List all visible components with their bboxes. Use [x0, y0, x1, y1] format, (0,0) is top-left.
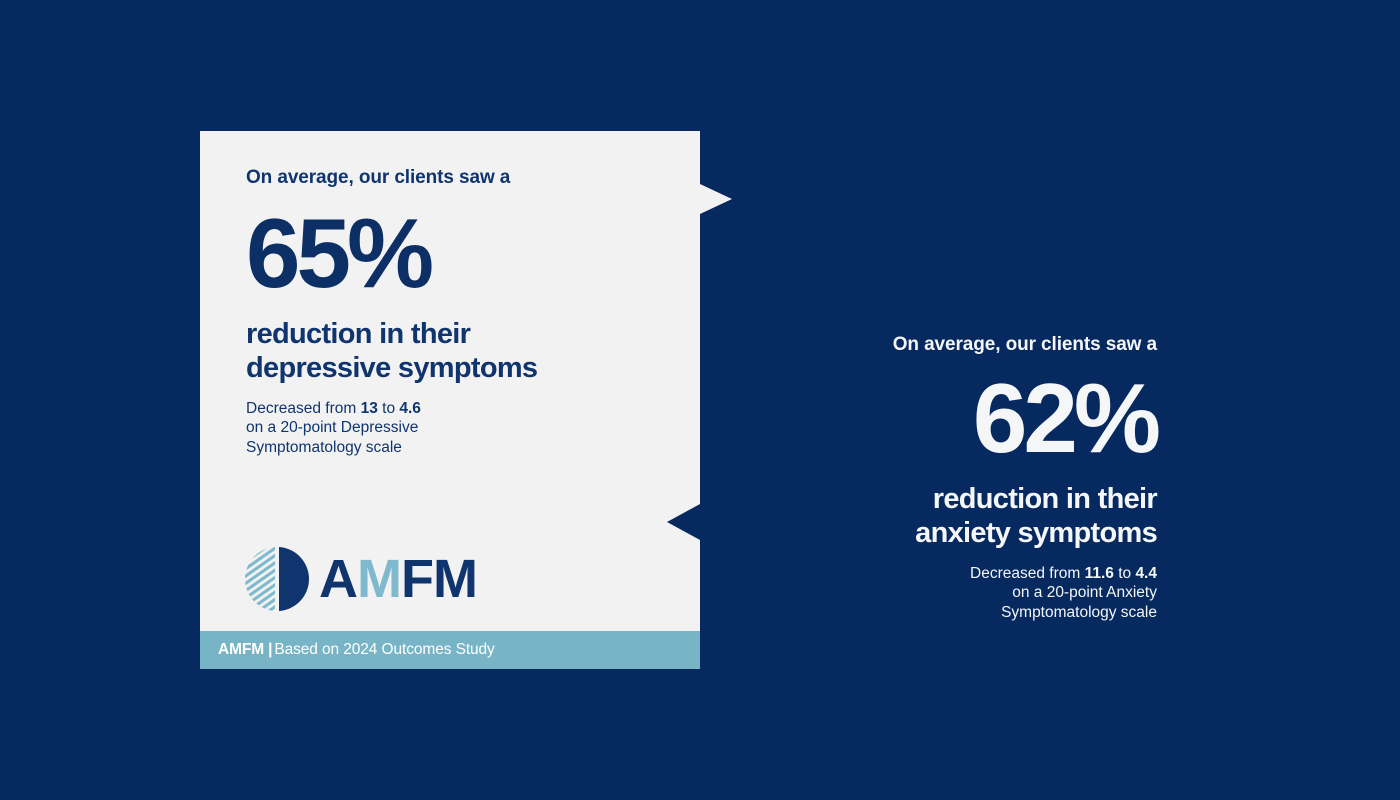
footer-separator: |: [264, 641, 274, 658]
anxiety-subnote-prefix: Decreased from: [970, 565, 1085, 582]
anxiety-kicker-text: On average, our clients saw a: [757, 334, 1157, 357]
anxiety-headline-line2: anxiety symptoms: [915, 517, 1157, 549]
source-footer-text: AMFM|Based on 2024 Outcomes Study: [218, 641, 495, 659]
depression-card-body: On average, our clients saw a 65% reduct…: [246, 167, 670, 458]
depression-to-value: 4.6: [399, 400, 421, 417]
depression-headline-line2: depressive symptoms: [246, 352, 537, 384]
depression-subnote-middle: to: [378, 400, 400, 417]
speech-bubble-tail-top: [700, 184, 732, 214]
anxiety-headline-line1: reduction in their: [933, 483, 1157, 515]
anxiety-stat-panel: On average, our clients saw a 62% reduct…: [757, 334, 1157, 623]
depression-percentage: 65%: [246, 204, 670, 302]
amfm-circle-mark-icon: [244, 546, 310, 612]
logo-letter-m1: M: [357, 552, 401, 606]
depression-subnote-line2: on a 20-point Depressive: [246, 419, 418, 436]
depression-subnote-line3: Symptomatology scale: [246, 439, 402, 456]
depression-headline-line1: reduction in their: [246, 318, 470, 350]
depression-subnote: Decreased from 13 to 4.6 on a 20-point D…: [246, 399, 670, 458]
anxiety-subnote-middle: to: [1114, 565, 1136, 582]
anxiety-percentage: 62%: [757, 369, 1157, 467]
logo-letter-m2: M: [433, 552, 477, 606]
footer-caption: Based on 2024 Outcomes Study: [274, 641, 494, 658]
logo-letter-a: A: [319, 552, 357, 606]
speech-bubble-tail-bottom: [667, 504, 700, 540]
anxiety-subnote-line3: Symptomatology scale: [1001, 604, 1157, 621]
anxiety-from-value: 11.6: [1085, 565, 1114, 582]
depression-headline: reduction in their depressive symptoms: [246, 318, 670, 386]
amfm-wordmark: A M F M: [319, 552, 477, 606]
anxiety-subnote: Decreased from 11.6 to 4.4 on a 20-point…: [757, 564, 1157, 623]
infographic-canvas: On average, our clients saw a 65% reduct…: [0, 0, 1400, 800]
footer-brand: AMFM: [218, 641, 264, 658]
amfm-logo: A M F M: [244, 546, 477, 612]
depression-from-value: 13: [361, 400, 378, 417]
source-footer-bar: AMFM|Based on 2024 Outcomes Study: [200, 631, 700, 669]
anxiety-subnote-line2: on a 20-point Anxiety: [1012, 584, 1157, 601]
anxiety-to-value: 4.4: [1135, 565, 1157, 582]
depression-subnote-prefix: Decreased from: [246, 400, 361, 417]
depression-kicker-text: On average, our clients saw a: [246, 167, 670, 190]
anxiety-headline: reduction in their anxiety symptoms: [757, 483, 1157, 551]
logo-letter-f: F: [401, 552, 433, 606]
